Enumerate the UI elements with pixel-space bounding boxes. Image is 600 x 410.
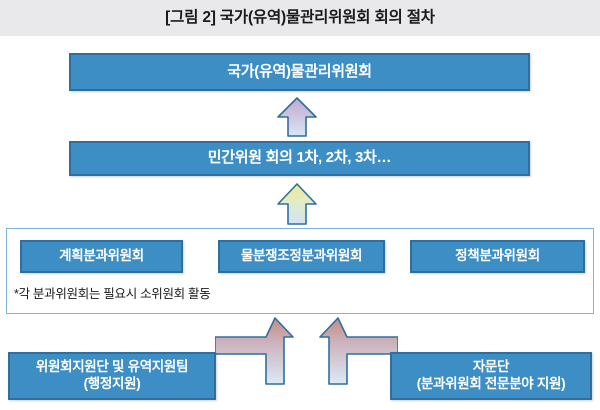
box-advisory-group: 자문단 (분과위원회 전문분야 지원) [390,352,592,400]
box-subcommittee-planning: 계획분과위원회 [20,240,183,273]
arrow-up-national-icon [275,96,319,138]
page-title: [그림 2] 국가(유역)물관리위원회 회의 절차 [0,0,600,36]
box-support-team: 위원회지원단 및 유역지원팀 (행정지원) [8,352,216,400]
arrow-elbow-support-icon [215,316,295,386]
box-civil-meetings: 민간위원 회의 1차, 2차, 3차… [69,141,530,176]
box-subcommittee-water-dispute: 물분쟁조정분과위원회 [218,240,385,273]
box-subcommittee-policy: 정책분과위원회 [410,240,585,273]
support-team-line-1: 위원회지원단 및 유역지원팀 [36,359,188,376]
arrow-up-civil-icon [275,182,319,226]
title-bar: [그림 2] 국가(유역)물관리위원회 회의 절차 [0,0,600,36]
subcommittee-note: *각 분과위원회는 필요시 소위원회 활동 [14,283,210,302]
arrow-elbow-advisory-icon [318,316,398,386]
box-national-committee: 국가(유역)물관리위원회 [69,53,530,91]
diagram-canvas: [그림 2] 국가(유역)물관리위원회 회의 절차 국가(유역)물관리위원회 민… [0,0,600,410]
advisory-line-2: (분과위원회 전문분야 지원) [417,376,566,393]
support-team-line-2: (행정지원) [36,376,188,393]
advisory-line-1: 자문단 [417,359,566,376]
